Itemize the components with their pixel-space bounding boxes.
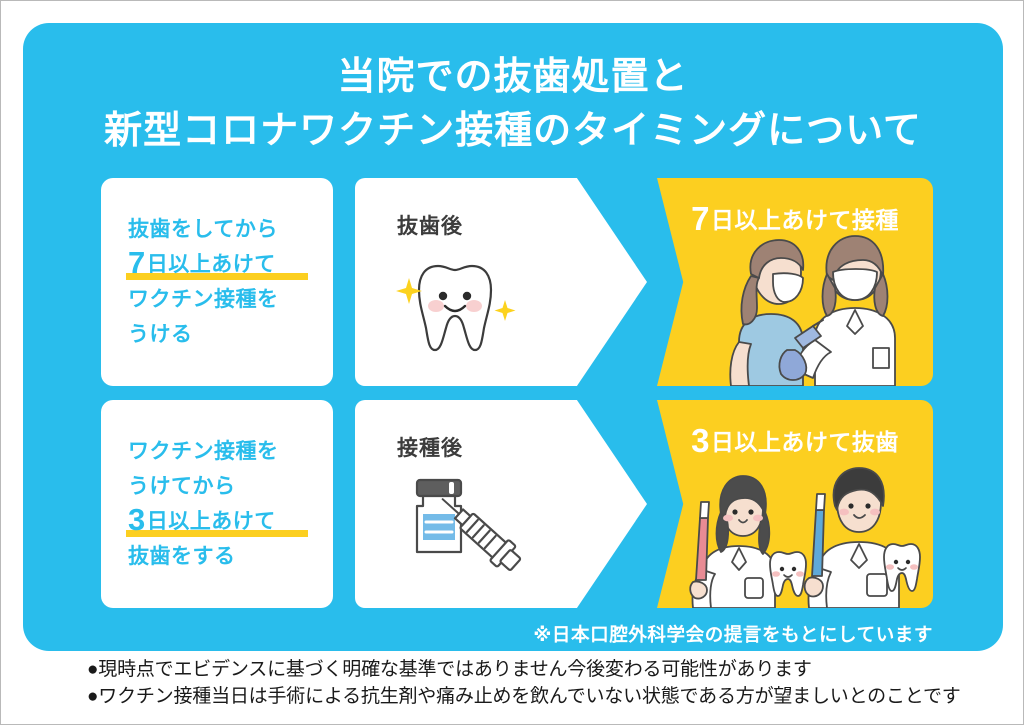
left-card-row2-number: 3 — [128, 502, 146, 537]
title-line-1: 当院での抜歯処置と — [23, 51, 1003, 105]
vaccine-vial-and-syringe-icon — [393, 470, 533, 590]
left-card-row1-line-2: 7日以上あけて — [128, 247, 333, 282]
left-card-row1-line-3: ワクチン接種を — [128, 282, 333, 317]
middle-panel-row1: 抜歯後 — [355, 178, 647, 386]
smiling-tooth-icon — [393, 248, 533, 368]
left-card-row2-line-3-text: 日以上あけて — [147, 510, 276, 533]
source-note: ※日本口腔外科学会の提言をもとにしています — [23, 621, 1003, 647]
title-line-2: 新型コロナワクチン接種のタイミングについて — [23, 105, 1003, 159]
middle-panel-row2-label: 接種後 — [397, 432, 463, 462]
left-card-row2-line-2: うけてから — [128, 469, 333, 504]
nurse-vaccinating-patient-illustration — [687, 230, 933, 386]
bottom-note-1: ●現時点でエビデンスに基づく明確な基準ではありません今後変わる可能性があります — [87, 656, 987, 683]
page-title: 当院での抜歯処置と 新型コロナワクチン接種のタイミングについて — [23, 51, 1003, 159]
bottom-note-2: ●ワクチン接種当日は手術による抗生剤や痛み止めを飲んでいない状態である方が望まし… — [87, 683, 987, 710]
bottom-notes: ●現時点でエビデンスに基づく明確な基準ではありません今後変わる可能性があります … — [87, 656, 987, 710]
flow-row-extraction-first: 抜歯をしてから 7日以上あけて ワクチン接種を うける 抜歯後 — [101, 178, 933, 386]
infographic-poster: 当院での抜歯処置と 新型コロナワクチン接種のタイミングについて 抜歯をしてから … — [0, 0, 1024, 725]
cyan-background-board: 当院での抜歯処置と 新型コロナワクチン接種のタイミングについて 抜歯をしてから … — [23, 23, 1003, 651]
left-card-row1-line-1: 抜歯をしてから — [128, 212, 333, 247]
left-card-row2-line-3: 3日以上あけて — [128, 504, 333, 539]
two-dental-staff-with-toothbrushes-illustration — [687, 452, 933, 608]
middle-panel-row2: 接種後 — [355, 400, 647, 608]
left-card-row1-number: 7 — [128, 245, 146, 280]
left-card-row2-line-1: ワクチン接種を — [128, 434, 333, 469]
right-panel-row2: 3日以上あけて抜歯 — [657, 400, 933, 608]
middle-panel-row1-label: 抜歯後 — [397, 210, 463, 240]
flow-row-vaccine-first: ワクチン接種を うけてから 3日以上あけて 抜歯をする 接種後 — [101, 400, 933, 608]
right-panel-row1: 7日以上あけて接種 — [657, 178, 933, 386]
left-card-row1-line-2-text: 日以上あけて — [147, 253, 276, 276]
left-card-row1: 抜歯をしてから 7日以上あけて ワクチン接種を うける — [101, 178, 333, 386]
left-card-row2: ワクチン接種を うけてから 3日以上あけて 抜歯をする — [101, 400, 333, 608]
left-card-row2-line-4: 抜歯をする — [128, 539, 333, 574]
left-card-row1-line-4: うける — [128, 317, 333, 352]
